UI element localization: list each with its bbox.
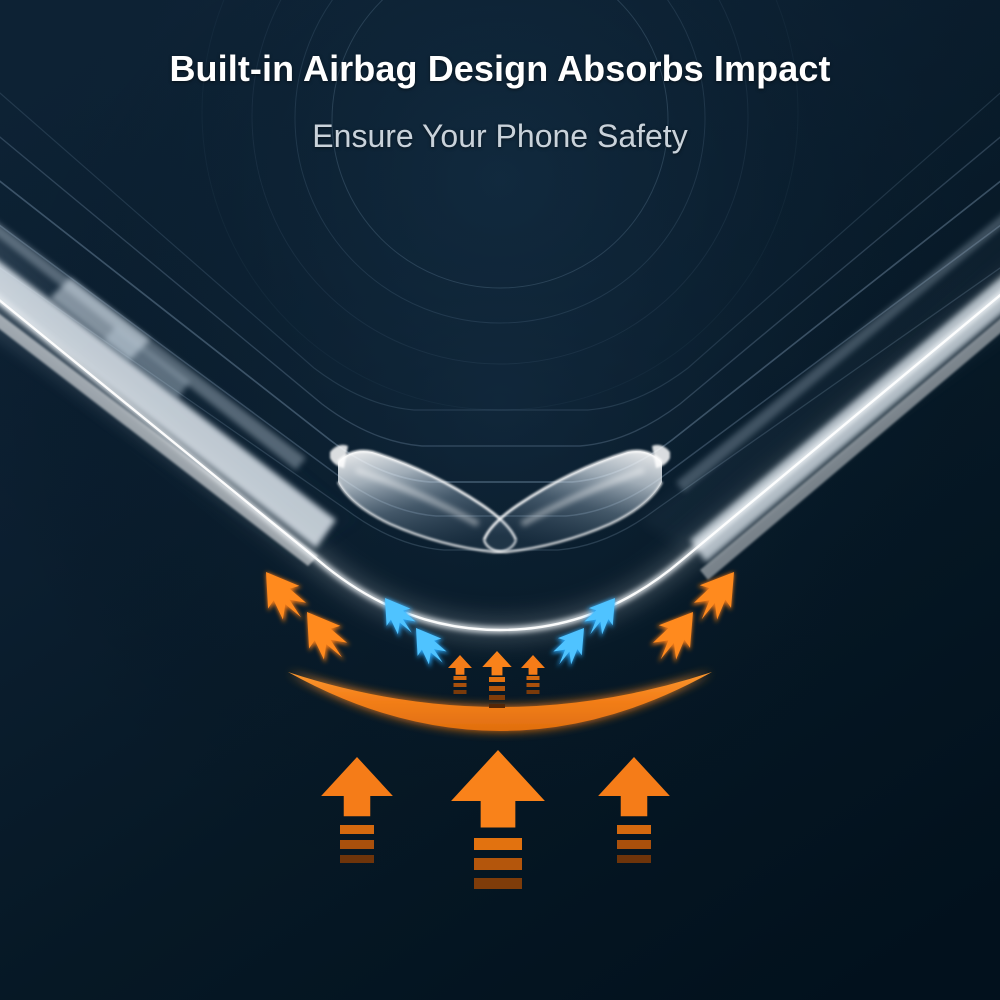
large-impact-arrow-left [321,757,393,863]
inward-blue-arrows-left [372,589,457,677]
small-impact-arrows-center [448,651,545,708]
large-impact-arrow-right [598,757,670,863]
small-impact-arrow-1 [448,655,472,694]
inward-blue-arrows-right [542,588,627,676]
impact-arrows-artwork [0,0,1000,1000]
outward-orange-arrows-right-core [643,560,749,669]
infographic-canvas: Built-in Airbag Design Absorbs Impact En… [0,0,1000,1000]
large-impact-arrows-bottom [321,750,670,889]
large-impact-arrow-center [451,750,545,889]
outward-orange-arrows-left [249,560,359,674]
inward-blue-arrows-right-core [546,589,626,672]
small-impact-arrow-2 [482,651,511,708]
outward-orange-arrows-right [640,560,750,674]
small-impact-arrow-3 [521,655,545,694]
